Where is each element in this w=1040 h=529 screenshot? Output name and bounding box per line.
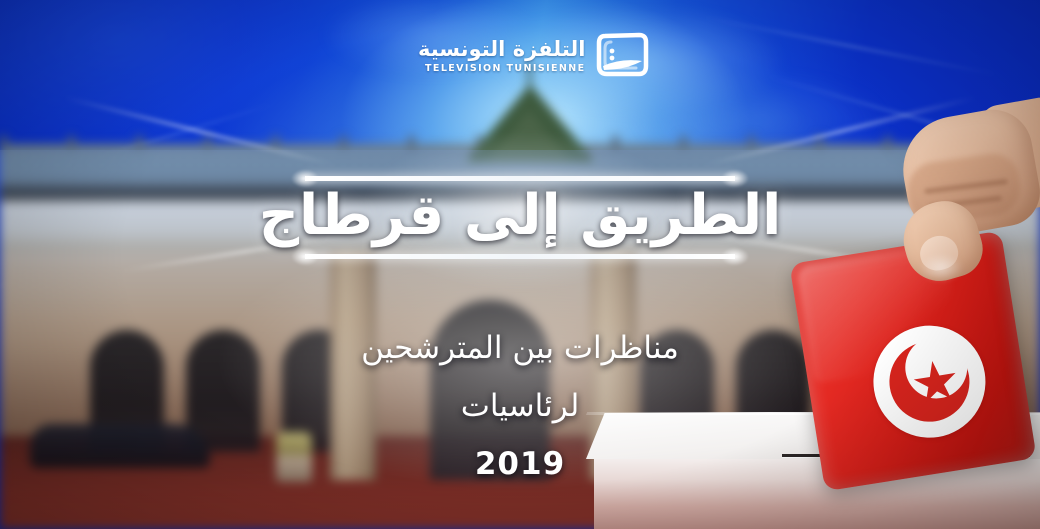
promo-banner: التلفزة التونسية TELEVISION TUNISIENNE ا… xyxy=(0,0,1040,529)
tv-screen-icon xyxy=(595,30,651,82)
channel-logo[interactable]: التلفزة التونسية TELEVISION TUNISIENNE xyxy=(418,30,651,82)
channel-name-arabic: التلفزة التونسية xyxy=(418,39,586,60)
hand-icon xyxy=(880,96,1040,296)
subtitle-line-1: مناظرات بين المترشحين xyxy=(361,330,679,366)
title-rule-bottom xyxy=(305,254,735,259)
year-label: 2019 xyxy=(475,446,565,482)
subtitle-line-2: لرئاسيات xyxy=(461,388,580,424)
channel-name-latin: TELEVISION TUNISIENNE xyxy=(425,64,585,74)
page-title: الطريق إلى قرطاج xyxy=(249,187,792,246)
thumb-highlight xyxy=(910,248,972,288)
title-rule-top xyxy=(305,176,735,181)
channel-logo-text: التلفزة التونسية TELEVISION TUNISIENNE xyxy=(418,39,586,74)
